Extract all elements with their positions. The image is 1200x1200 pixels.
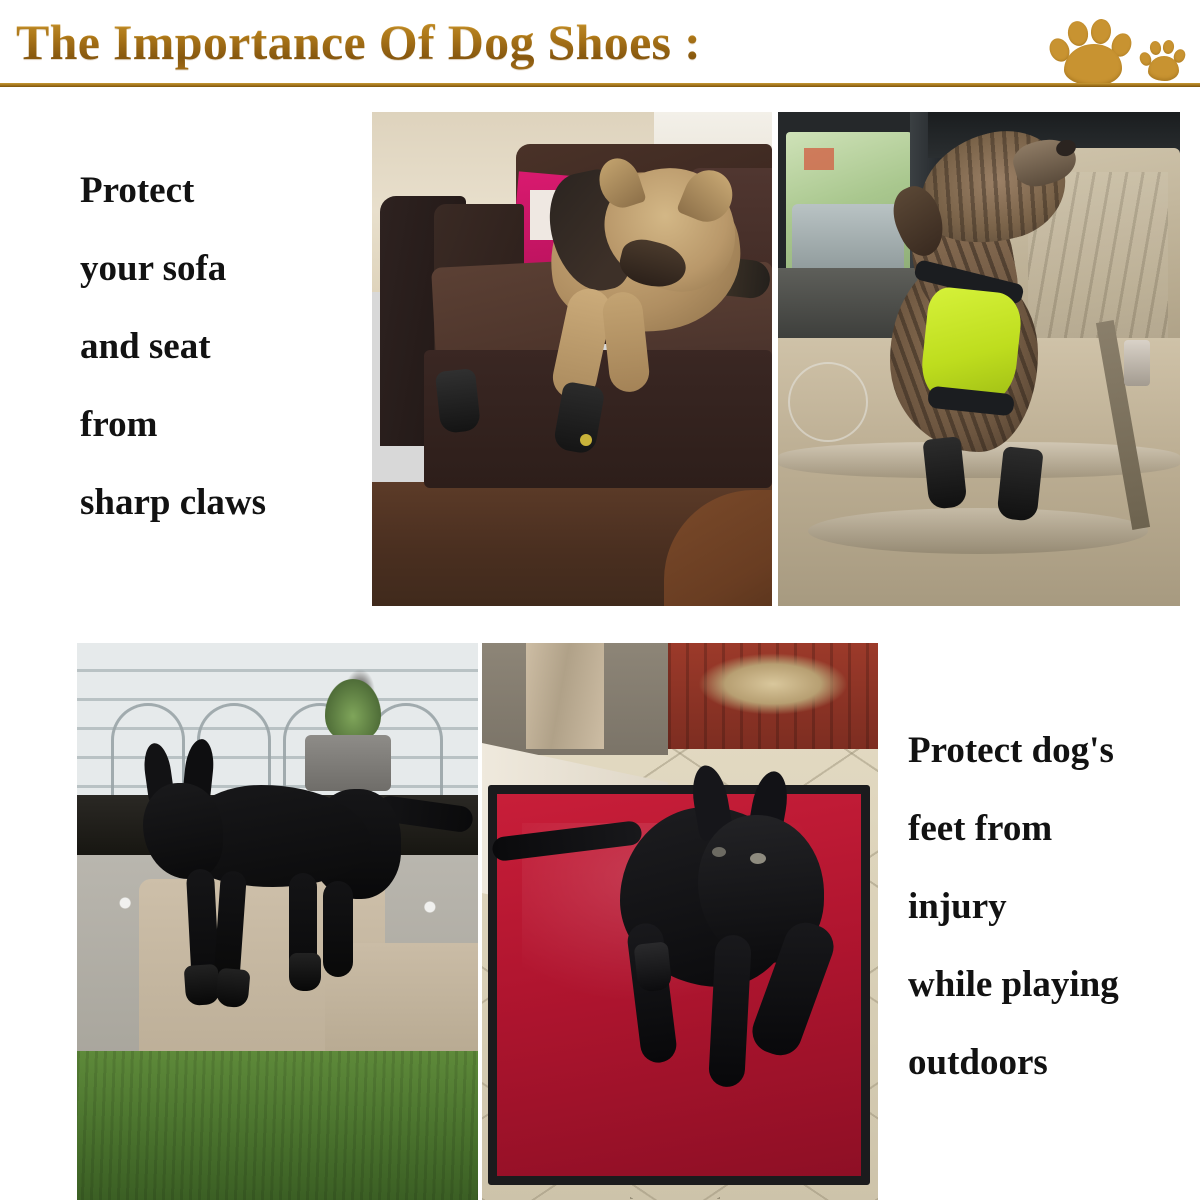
dog-boot: [289, 953, 321, 991]
benefit-line: feet from: [908, 790, 1119, 868]
benefit-line: Protect dog's: [908, 712, 1119, 790]
infographic-page: The Importance Of Dog Shoes : Protect yo…: [0, 0, 1200, 1200]
paw-print-large-icon: [1050, 16, 1134, 86]
benefit-line: and seat: [80, 308, 266, 386]
benefit-line: sharp claws: [80, 464, 266, 542]
curtain: [526, 643, 604, 749]
benefit-line: Protect: [80, 152, 266, 230]
benefit-line: your sofa: [80, 230, 266, 308]
dog-hind-leg-right: [323, 881, 353, 977]
cable-on-seat: [788, 362, 868, 442]
dog-eye-right: [750, 853, 766, 864]
photo-dog-in-car: [778, 112, 1180, 606]
title-divider-rule: [0, 83, 1200, 87]
dog-boot: [996, 446, 1043, 522]
dog-boot-tag: [580, 434, 592, 446]
header: The Importance Of Dog Shoes :: [0, 0, 1200, 92]
paw-toe: [1066, 19, 1090, 47]
photo-dog-on-sofa: [372, 112, 772, 606]
photo-dog-in-yard: [77, 643, 478, 1200]
green-grass: [77, 1051, 478, 1200]
dog-boot: [435, 368, 481, 434]
paw-toe: [1149, 40, 1162, 55]
dog-eye-left: [712, 847, 726, 857]
benefit-line: while playing: [908, 946, 1119, 1024]
dog-boot: [184, 964, 221, 1006]
paw-pad: [1148, 56, 1179, 81]
seat-belt-buckle: [1124, 340, 1150, 386]
paw-pad: [1064, 44, 1122, 86]
paw-toe: [1090, 18, 1113, 45]
benefit-line: injury: [908, 868, 1119, 946]
page-title: The Importance Of Dog Shoes :: [16, 14, 701, 70]
paw-print-group: [1016, 8, 1186, 86]
dog-boot: [922, 436, 967, 510]
photo-dog-on-mat: [482, 643, 878, 1200]
truck-outside-window: [792, 204, 904, 276]
potted-plant: [325, 679, 381, 741]
paw-print-small-icon: [1140, 38, 1186, 82]
dog-boot: [634, 941, 673, 992]
benefit-line: from: [80, 386, 266, 464]
benefit-text-feet: Protect dog's feet from injury while pla…: [908, 712, 1119, 1102]
benefit-text-sofa: Protect your sofa and seat from sharp cl…: [80, 152, 266, 542]
stone-planter: [305, 735, 391, 791]
window-sign: [804, 148, 834, 170]
benefit-line: outdoors: [908, 1024, 1119, 1102]
car-seat-crease: [808, 508, 1148, 554]
rug-pattern: [698, 653, 848, 715]
paw-toe: [1162, 39, 1175, 54]
